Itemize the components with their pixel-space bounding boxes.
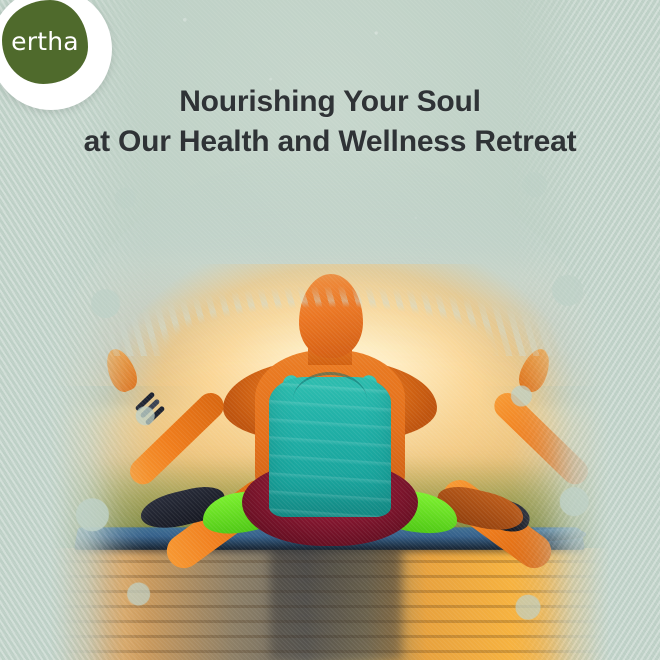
social-media-poster: Nourishing Your Soul at Our Health and W…: [0, 0, 660, 660]
headline-line-2: at Our Health and Wellness Retreat: [0, 122, 660, 162]
yoga-photograph: [28, 152, 632, 660]
headline-line-1: Nourishing Your Soul: [0, 82, 660, 122]
figure-right-hand: [515, 345, 556, 396]
figure-right-forearm: [489, 388, 593, 490]
logo-wordmark: ertha: [11, 27, 79, 56]
figure-left-hand: [101, 345, 142, 396]
logo-blob-icon: ertha: [2, 0, 88, 84]
yoga-figure: [28, 152, 632, 660]
figure-head: [299, 274, 363, 358]
page-title: Nourishing Your Soul at Our Health and W…: [0, 82, 660, 162]
